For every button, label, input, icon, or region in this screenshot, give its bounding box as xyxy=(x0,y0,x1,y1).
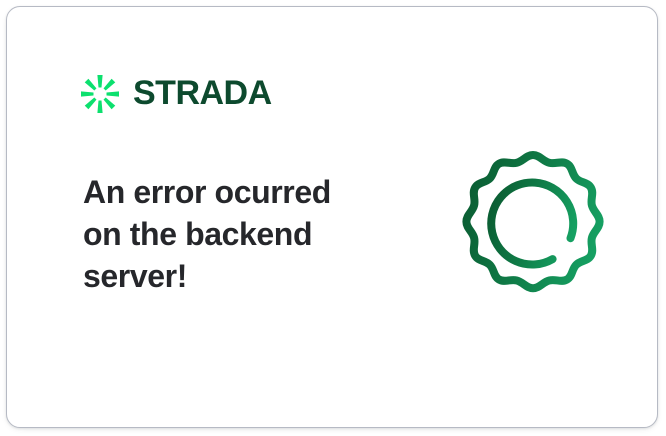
brand-logo: STRADA xyxy=(79,73,299,115)
error-page: STRADA An error ocurred on the backend s… xyxy=(0,0,666,436)
brand-wordmark: STRADA xyxy=(133,77,299,111)
error-headline: An error ocurred on the backend server! xyxy=(83,171,383,297)
gear-illustration xyxy=(453,143,613,307)
gear-icon xyxy=(453,143,613,307)
brand-wordmark-text: STRADA xyxy=(133,77,272,111)
error-card: STRADA An error ocurred on the backend s… xyxy=(6,6,658,428)
strada-asterisk-icon xyxy=(79,73,121,115)
